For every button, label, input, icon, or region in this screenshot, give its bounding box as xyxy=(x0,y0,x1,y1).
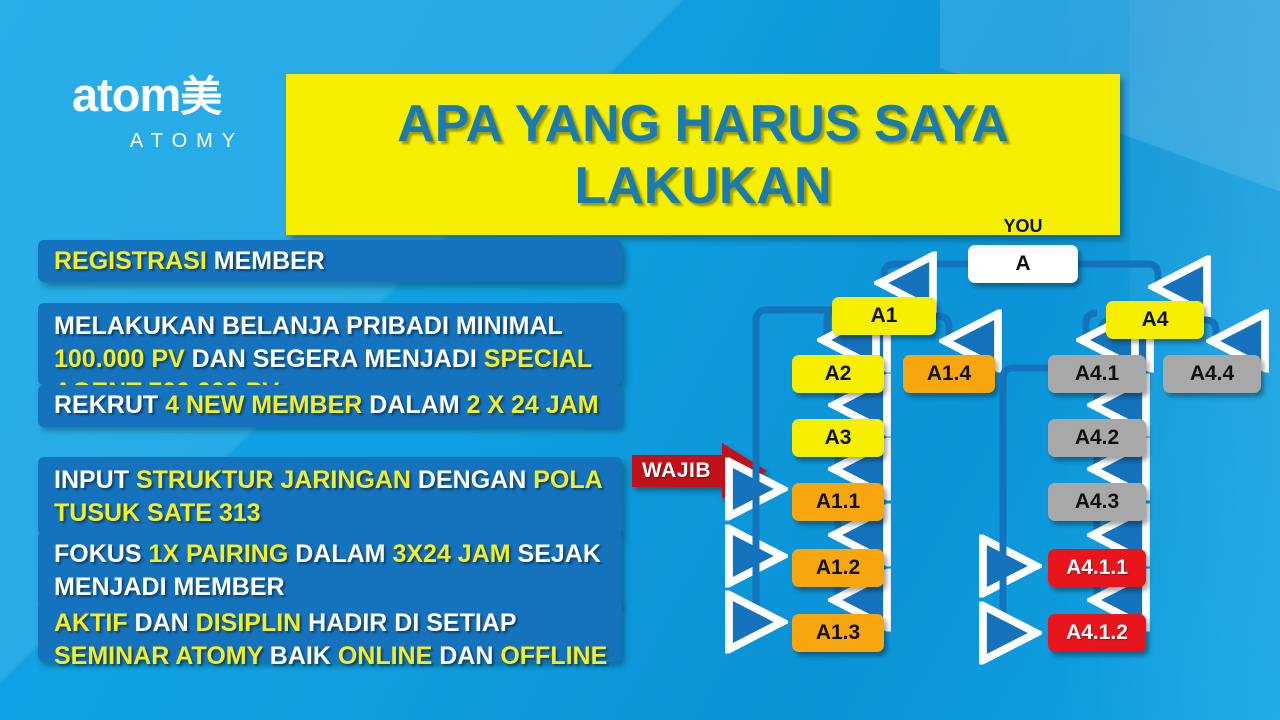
network-tree-diagram: YOU AA1A2A1.4A3A1.1A1.2A1.3A4A4.1A4.4A4.… xyxy=(0,0,1280,720)
tree-node-a4: A4 xyxy=(1106,301,1204,339)
tree-node-label: A4.4 xyxy=(1190,362,1234,386)
tree-node-label: A1.1 xyxy=(816,490,860,514)
tree-node-label: A4.1 xyxy=(1075,362,1119,386)
tree-node-a41: A4.1 xyxy=(1048,355,1146,393)
tree-node-label: A4.2 xyxy=(1075,426,1119,450)
tree-node-a11: A1.1 xyxy=(792,483,884,521)
tree-node-label: A2 xyxy=(825,362,852,386)
tree-node-a43: A4.3 xyxy=(1048,483,1146,521)
tree-node-label: A1.3 xyxy=(816,621,860,645)
tree-node-label: A xyxy=(1015,252,1030,276)
tree-node-label: A4.3 xyxy=(1075,490,1119,514)
tree-node-a3: A3 xyxy=(792,419,884,457)
tree-node-label: A1 xyxy=(871,304,898,328)
tree-node-a12: A1.2 xyxy=(792,549,884,587)
tree-node-root: A xyxy=(968,245,1078,283)
tree-node-label: A1.4 xyxy=(927,362,971,386)
tree-node-a2: A2 xyxy=(792,355,884,393)
tree-node-a13: A1.3 xyxy=(792,614,884,652)
tree-node-label: A4.1.2 xyxy=(1066,621,1128,645)
tree-node-label: A1.2 xyxy=(816,556,860,580)
tree-node-a1: A1 xyxy=(832,297,936,335)
you-label: YOU xyxy=(968,216,1078,237)
tree-node-label: A4 xyxy=(1142,308,1169,332)
tree-node-a42: A4.2 xyxy=(1048,419,1146,457)
tree-node-label: A3 xyxy=(825,426,852,450)
tree-node-a14: A1.4 xyxy=(903,355,995,393)
tree-node-a412: A4.1.2 xyxy=(1048,614,1146,652)
tree-node-label: A4.1.1 xyxy=(1066,556,1128,580)
tree-node-a44: A4.4 xyxy=(1163,355,1261,393)
tree-node-a411: A4.1.1 xyxy=(1048,549,1146,587)
